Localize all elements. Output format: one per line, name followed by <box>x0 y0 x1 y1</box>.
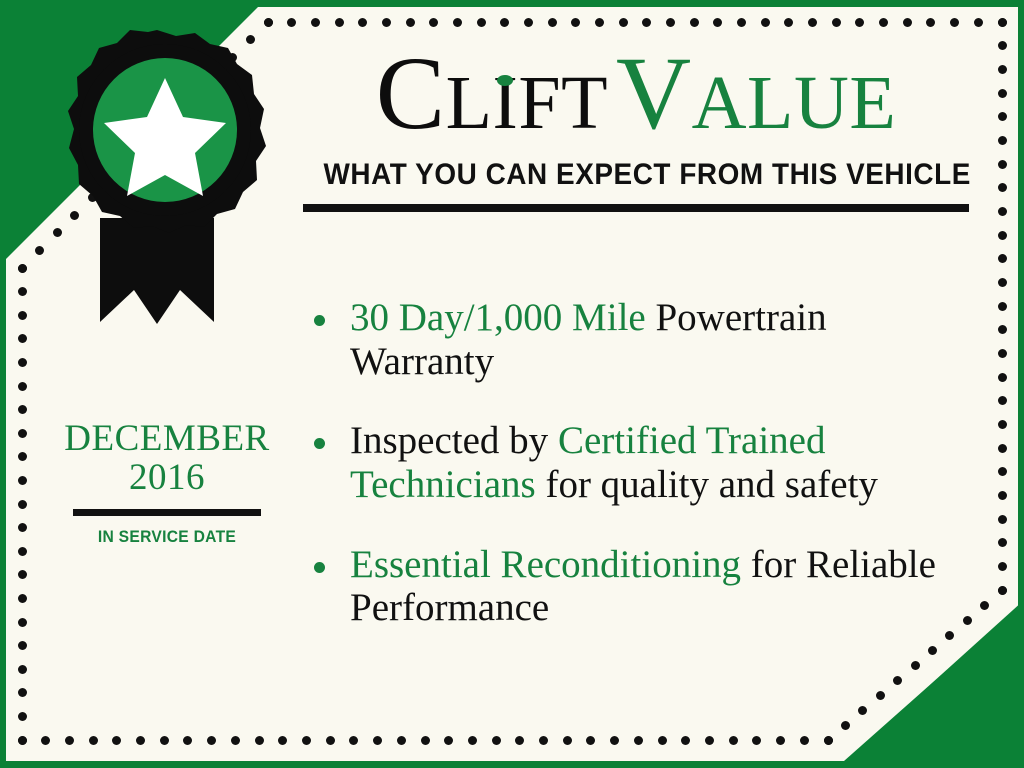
brand-ft: FT <box>518 61 608 145</box>
benefit-rest-text: for quality and safety <box>536 463 878 506</box>
benefits-list: 30 Day/1,000 Mile Powertrain WarrantyIns… <box>306 296 966 630</box>
in-service-month: DECEMBER <box>36 420 298 457</box>
bullet-dot-icon <box>314 562 325 573</box>
in-service-caption: IN SERVICE DATE <box>46 527 287 547</box>
in-service-date-block: DECEMBER 2016 IN SERVICE DATE <box>36 420 298 547</box>
clift-value-card: CLIFTVALUE WHAT YOU CAN EXPECT FROM THIS… <box>0 0 1024 768</box>
brand-l: L <box>446 61 493 145</box>
brand-alue: ALUE <box>692 61 897 145</box>
bullet-dot-icon <box>314 438 325 449</box>
brand-i: I <box>493 61 519 145</box>
brand-v: V <box>616 36 692 151</box>
masthead: CLIFTVALUE WHAT YOU CAN EXPECT FROM THIS… <box>300 46 972 212</box>
benefit-highlight-text: Essential Reconditioning <box>350 543 741 586</box>
brand-c: C <box>376 36 446 151</box>
in-service-year: 2016 <box>36 457 298 500</box>
in-service-divider <box>73 509 261 516</box>
benefit-item: Inspected by Certified Trained Technicia… <box>306 419 966 506</box>
brand-logo: CLIFTVALUE <box>300 46 972 142</box>
benefit-item: Essential Reconditioning for Reliable Pe… <box>306 543 966 630</box>
benefit-item: 30 Day/1,000 Mile Powertrain Warranty <box>306 296 966 383</box>
masthead-subtitle: WHAT YOU CAN EXPECT FROM THIS VEHICLE <box>324 158 949 192</box>
masthead-divider <box>303 204 969 212</box>
award-ribbon-star-icon <box>38 22 276 332</box>
benefit-highlight-text: 30 Day/1,000 Mile <box>350 296 646 339</box>
brand-i-wrap: I <box>493 69 519 139</box>
benefit-lead-text: Inspected by <box>350 419 558 462</box>
bullet-dot-icon <box>314 315 325 326</box>
